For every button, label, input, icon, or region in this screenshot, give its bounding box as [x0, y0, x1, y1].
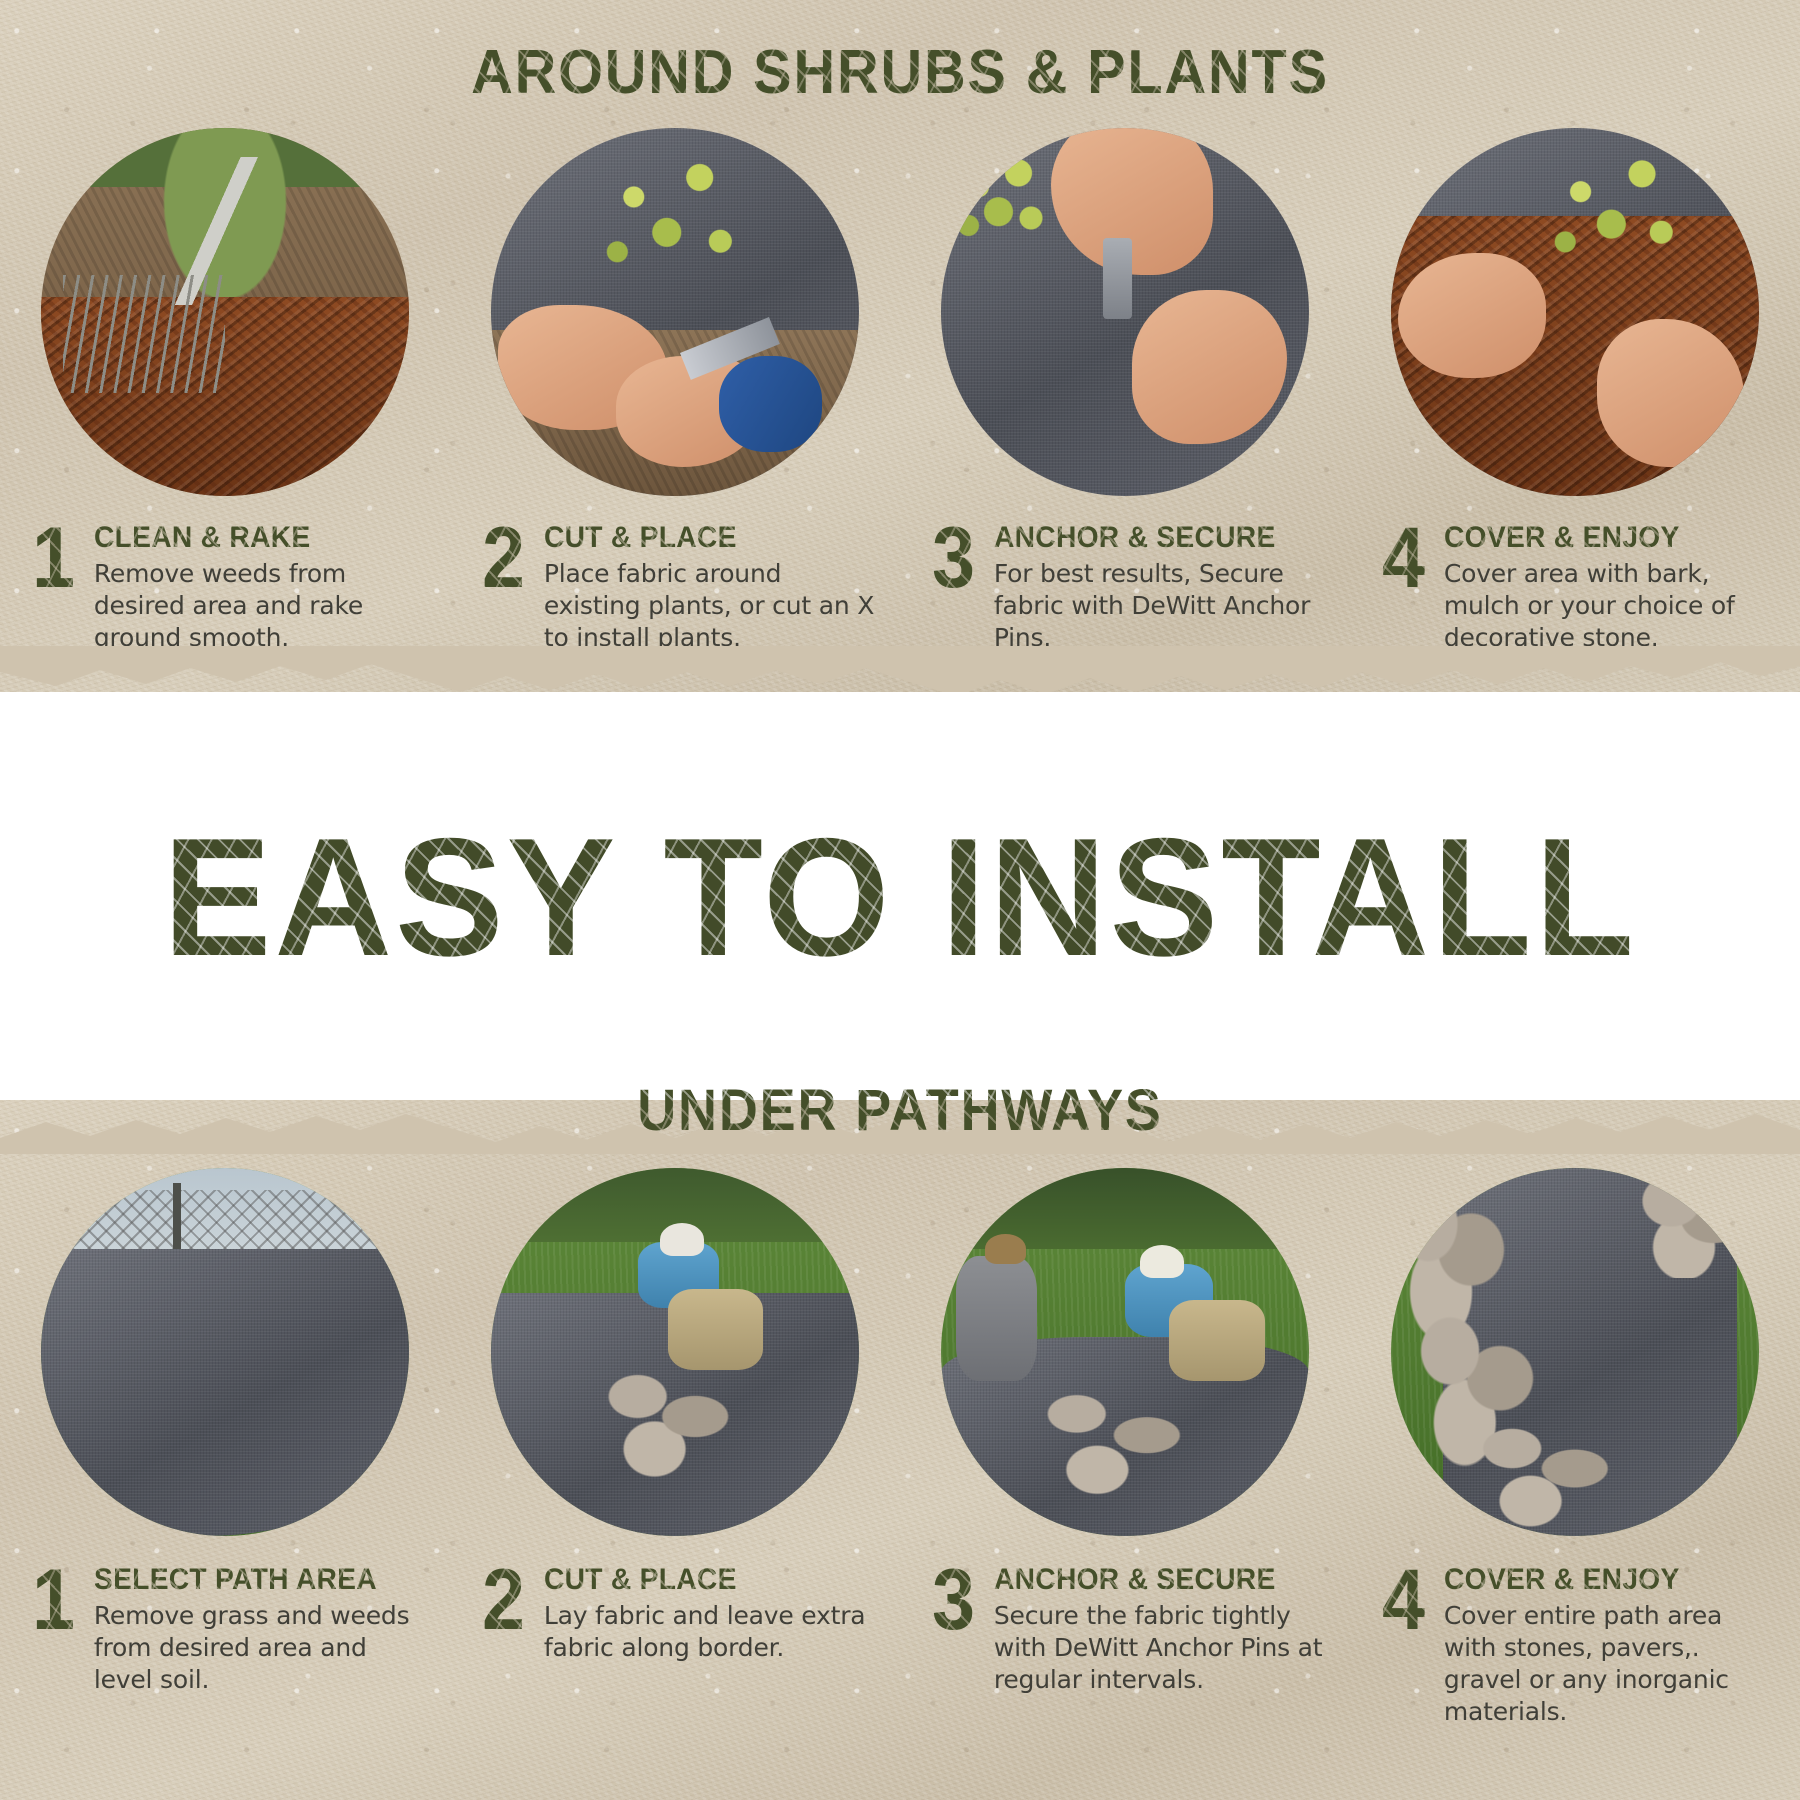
step-photo-cut-and-place [491, 128, 859, 496]
step-title: COVER & ENJOY [1444, 522, 1758, 554]
step-number: 1 [32, 1564, 75, 1636]
steps-row-shrubs: 1 CLEAN & RAKE Remove weeds from desired… [0, 128, 1800, 654]
step-title: SELECT PATH AREA [94, 1564, 408, 1596]
step-description: Remove grass and weeds from desired area… [94, 1600, 428, 1696]
step-caption: 3 ANCHOR & SECURE For best results, Secu… [922, 522, 1328, 654]
step-description: Lay fabric and leave extra fabric along … [544, 1600, 878, 1664]
section-title-under-pathways: UNDER PATHWAYS [63, 1078, 1737, 1144]
step-title: ANCHOR & SECURE [994, 522, 1308, 554]
step-caption: 3 ANCHOR & SECURE Secure the fabric tigh… [922, 1564, 1328, 1696]
step-caption: 1 CLEAN & RAKE Remove weeds from desired… [22, 522, 428, 654]
step-card: 4 COVER & ENJOY Cover entire path area w… [1350, 1168, 1800, 1728]
step-card: 3 ANCHOR & SECURE Secure the fabric tigh… [900, 1168, 1350, 1728]
step-description: Remove weeds from desired area and rake … [94, 558, 428, 654]
hero-banner: EASY TO INSTALL [0, 692, 1800, 1102]
step-caption: 1 SELECT PATH AREA Remove grass and weed… [22, 1564, 428, 1696]
step-card: 2 CUT & PLACE Lay fabric and leave extra… [450, 1168, 900, 1728]
step-photo-clean-and-rake [41, 128, 409, 496]
step-card: 2 CUT & PLACE Place fabric around existi… [450, 128, 900, 654]
step-photo-cut-and-place-path [491, 1168, 859, 1536]
step-caption: 2 CUT & PLACE Place fabric around existi… [472, 522, 878, 654]
step-caption: 2 CUT & PLACE Lay fabric and leave extra… [472, 1564, 878, 1664]
step-title: COVER & ENJOY [1444, 1564, 1758, 1596]
step-number: 4 [1382, 522, 1425, 594]
step-card: 1 SELECT PATH AREA Remove grass and weed… [0, 1168, 450, 1728]
step-description: Secure the fabric tightly with DeWitt An… [994, 1600, 1328, 1696]
section-title-around-shrubs: AROUND SHRUBS & PLANTS [63, 38, 1737, 108]
step-number: 3 [932, 1564, 975, 1636]
step-caption: 4 COVER & ENJOY Cover area with bark, mu… [1372, 522, 1778, 654]
step-number: 4 [1382, 1564, 1425, 1636]
step-photo-select-path-area [41, 1168, 409, 1536]
step-photo-anchor-and-secure-path [941, 1168, 1309, 1536]
step-card: 1 CLEAN & RAKE Remove weeds from desired… [0, 128, 450, 654]
step-description: For best results, Secure fabric with DeW… [994, 558, 1328, 654]
step-card: 3 ANCHOR & SECURE For best results, Secu… [900, 128, 1350, 654]
step-number: 2 [482, 522, 525, 594]
step-number: 3 [932, 522, 975, 594]
step-photo-anchor-and-secure [941, 128, 1309, 496]
step-card: 4 COVER & ENJOY Cover area with bark, mu… [1350, 128, 1800, 654]
step-caption: 4 COVER & ENJOY Cover entire path area w… [1372, 1564, 1778, 1728]
step-title: CUT & PLACE [544, 522, 858, 554]
hero-title: EASY TO INSTALL [163, 813, 1637, 981]
step-title: CUT & PLACE [544, 1564, 858, 1596]
step-title: CLEAN & RAKE [94, 522, 408, 554]
step-number: 1 [32, 522, 75, 594]
step-number: 2 [482, 1564, 525, 1636]
step-description: Cover area with bark, mulch or your choi… [1444, 558, 1778, 654]
steps-row-pathways: 1 SELECT PATH AREA Remove grass and weed… [0, 1168, 1800, 1728]
step-description: Cover entire path area with stones, pave… [1444, 1600, 1778, 1728]
step-title: ANCHOR & SECURE [994, 1564, 1308, 1596]
step-description: Place fabric around existing plants, or … [544, 558, 878, 654]
step-photo-cover-and-enjoy [1391, 128, 1759, 496]
infographic-page: AROUND SHRUBS & PLANTS 1 CLEAN & RAKE Re… [0, 0, 1800, 1800]
step-photo-cover-and-enjoy-path [1391, 1168, 1759, 1536]
